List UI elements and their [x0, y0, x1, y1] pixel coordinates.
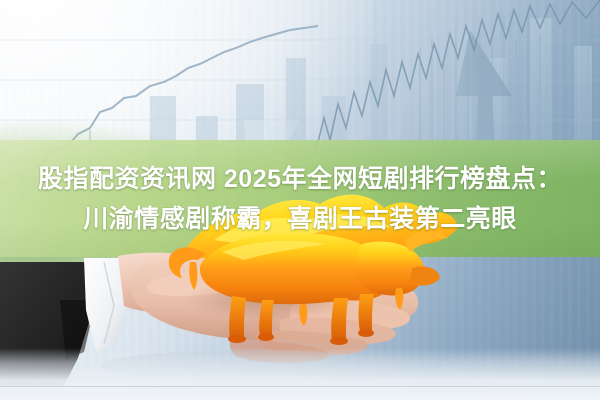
table-edge-line — [0, 386, 600, 387]
banner-title-line-2: 川渝情感剧称霸，喜剧王古装第二亮眼 — [83, 200, 517, 238]
bull-muzzle — [410, 266, 440, 285]
table-surface — [0, 348, 600, 400]
banner-title-line-1: 股指配资资讯网 2025年全网短剧排行榜盘点： — [38, 160, 562, 198]
banner-image: 股指配资资讯网 2025年全网短剧排行榜盘点： 川渝情感剧称霸，喜剧王古装第二亮… — [0, 0, 600, 400]
banner-title: 股指配资资讯网 2025年全网短剧排行榜盘点： 川渝情感剧称霸，喜剧王古装第二亮… — [0, 140, 600, 257]
